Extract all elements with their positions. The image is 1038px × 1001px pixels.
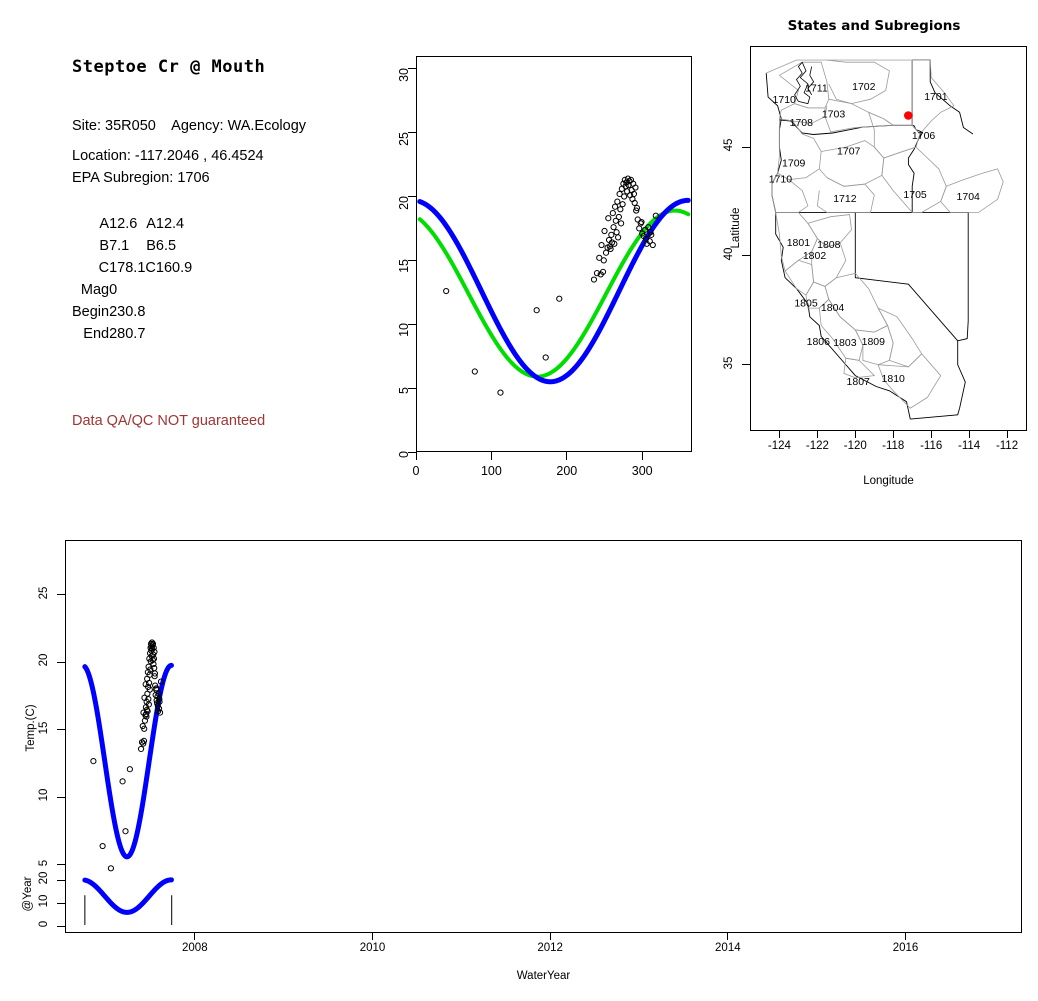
data-point bbox=[616, 235, 621, 240]
map-ytick-mark bbox=[742, 255, 750, 256]
ts-xtick-mark bbox=[727, 932, 728, 940]
parameter-cell-left: 280.7 bbox=[109, 325, 145, 347]
parameter-row: A12.6A12.4 bbox=[72, 215, 192, 237]
qaqc-warning: Data QA/QC NOT guaranteed bbox=[72, 413, 265, 429]
map-subregion-label: 1710 bbox=[769, 174, 793, 186]
data-point bbox=[543, 355, 548, 360]
data-point bbox=[127, 767, 132, 772]
ts-inset-ytick-label: 20 bbox=[38, 866, 50, 890]
map-yaxis-label: Latitude bbox=[730, 188, 742, 268]
map-ytick-label: 45 bbox=[723, 133, 735, 157]
map-xtick-mark bbox=[779, 430, 780, 438]
xtick-mark bbox=[416, 452, 417, 460]
parameters-table: A12.6A12.4B7.1B6.5C178.1C160.9Mag0Begin2… bbox=[72, 215, 192, 347]
ts-ytick-label: 20 bbox=[38, 648, 50, 672]
data-point bbox=[599, 242, 604, 247]
xtick-label: 0 bbox=[396, 464, 436, 478]
data-point bbox=[606, 216, 611, 221]
xtick-label: 300 bbox=[622, 464, 662, 478]
parameter-cell-left: End bbox=[72, 325, 109, 347]
ca-nv-az-border bbox=[910, 212, 968, 419]
map-subregion-label: 1704 bbox=[957, 191, 981, 203]
ts-ytick-mark bbox=[57, 594, 65, 595]
map-ytick-mark bbox=[742, 147, 750, 148]
map-subregion-label: 1803 bbox=[833, 337, 857, 349]
parameter-cell-right: 160.9 bbox=[156, 259, 192, 281]
parameter-row: C178.1C160.9 bbox=[72, 259, 192, 281]
parameter-cell-left: Begin bbox=[72, 303, 109, 325]
data-point bbox=[619, 186, 624, 191]
epa-subregion-line: EPA Subregion: 1706 bbox=[72, 170, 210, 186]
ts-xtick-mark bbox=[905, 932, 906, 940]
data-point bbox=[611, 225, 616, 230]
map-subregion-label: 1705 bbox=[903, 189, 927, 201]
ts-inset-ytick-label: 0 bbox=[38, 912, 50, 936]
data-point bbox=[637, 226, 642, 231]
map-xtick-mark bbox=[1007, 430, 1008, 438]
site-info-panel: Steptoe Cr @ Mouth Site: 35R050 Agency: … bbox=[0, 0, 380, 500]
map-subregion-label: 1708 bbox=[790, 117, 814, 129]
parameter-cell-left: A bbox=[72, 215, 109, 237]
map-xtick-mark bbox=[893, 430, 894, 438]
ytick-label: 20 bbox=[397, 196, 411, 222]
map-ytick-mark bbox=[742, 364, 750, 365]
seasonal-plot-panel: 0510152025300100200300 bbox=[380, 40, 710, 480]
data-point bbox=[650, 242, 655, 247]
xtick-label: 100 bbox=[471, 464, 511, 478]
data-point bbox=[91, 759, 96, 764]
parameter-row: B7.1B6.5 bbox=[72, 237, 192, 259]
parameter-cell-right: B bbox=[145, 237, 155, 259]
parameter-cell-left: 178.1 bbox=[109, 259, 145, 281]
data-point bbox=[534, 308, 539, 313]
ts-xtick-label: 2010 bbox=[344, 942, 400, 954]
ts-xtick-mark bbox=[372, 932, 373, 940]
data-point bbox=[108, 866, 113, 871]
fit-parameters-table: A12.6A12.4B7.1B6.5C178.1C160.9Mag0Begin2… bbox=[72, 215, 192, 347]
parameter-cell-right bbox=[145, 303, 155, 325]
parameter-cell-right bbox=[145, 325, 155, 347]
ca-nv-border bbox=[855, 213, 957, 341]
data-point bbox=[616, 214, 621, 219]
ts-xtick-label: 2016 bbox=[878, 942, 934, 954]
site-marker bbox=[904, 111, 913, 120]
data-point bbox=[120, 779, 125, 784]
ytick-label: 30 bbox=[397, 68, 411, 94]
map-subregion-label: 1807 bbox=[847, 376, 871, 388]
data-point bbox=[123, 829, 128, 834]
parameter-row: End280.7 bbox=[72, 325, 192, 347]
map-subregion-label: 1809 bbox=[862, 336, 886, 348]
data-point bbox=[610, 211, 615, 216]
ts-ytick-mark bbox=[57, 662, 65, 663]
map-subregion-label: 1711 bbox=[805, 82, 828, 94]
data-point bbox=[444, 288, 449, 293]
ts-inset-ytick-mark bbox=[57, 926, 65, 927]
map-subregion-label: 1806 bbox=[807, 336, 831, 348]
data-point bbox=[498, 390, 503, 395]
map-frame: 1711171017081703170217011706170717091710… bbox=[750, 46, 1027, 431]
parameter-cell-right bbox=[156, 281, 192, 303]
ts-ytick-mark bbox=[57, 864, 65, 865]
ts-xtick-mark bbox=[194, 932, 195, 940]
parameter-row: Mag0 bbox=[72, 281, 192, 303]
ts-ytick-mark bbox=[57, 729, 65, 730]
ts-ytick-mark bbox=[57, 797, 65, 798]
sub-1705 bbox=[882, 147, 946, 212]
ts-inset-ytick-mark bbox=[57, 903, 65, 904]
timeseries-inset-yaxis-label: @Year bbox=[22, 854, 34, 934]
parameter-cell-right bbox=[156, 303, 192, 325]
map-subregion-label: 1712 bbox=[833, 193, 857, 205]
parameter-cell-right: A bbox=[145, 215, 155, 237]
timeseries-xaxis-label: WaterYear bbox=[65, 970, 1022, 982]
ts-ytick-label: 10 bbox=[38, 783, 50, 807]
timeseries-panel: 5101520250102020082010201220142016 Temp.… bbox=[0, 500, 1038, 1001]
ts-inset-ytick-label: 10 bbox=[38, 889, 50, 913]
parameter-row: Begin230.8 bbox=[72, 303, 192, 325]
parameter-cell-right: 12.4 bbox=[156, 215, 192, 237]
map-canvas: 1711171017081703170217011706170717091710… bbox=[751, 47, 1026, 430]
data-point bbox=[601, 258, 606, 263]
parameter-cell-left: 12.6 bbox=[109, 215, 145, 237]
data-point bbox=[620, 202, 625, 207]
data-point bbox=[138, 746, 143, 751]
parameter-cell-left: C bbox=[72, 259, 109, 281]
map-xtick-mark bbox=[931, 430, 932, 438]
map-subregion-label: 1706 bbox=[912, 130, 936, 142]
data-point bbox=[603, 250, 608, 255]
parameter-cell-right bbox=[145, 281, 155, 303]
data-point bbox=[622, 194, 627, 199]
map-subregion-label: 1801 bbox=[787, 237, 811, 249]
seasonal-plot-canvas bbox=[416, 56, 692, 452]
timeseries-inset-fit bbox=[85, 880, 172, 913]
parameter-cell-left: 0 bbox=[109, 281, 145, 303]
map-subregion-label: 1702 bbox=[852, 81, 876, 93]
map-subregion-label: 1710 bbox=[773, 94, 797, 106]
map-subregion-label: 1701 bbox=[924, 91, 948, 103]
parameter-cell-right: 6.5 bbox=[156, 237, 192, 259]
location-line: Location: -117.2046 , 46.4524 bbox=[72, 148, 264, 164]
parameter-cell-left: 7.1 bbox=[109, 237, 145, 259]
ts-inset-ytick-mark bbox=[57, 880, 65, 881]
map-xtick-mark bbox=[969, 430, 970, 438]
map-subregion-label: 1709 bbox=[782, 157, 806, 169]
ts-ytick-label: 25 bbox=[38, 581, 50, 605]
data-point bbox=[609, 232, 614, 237]
xtick-label: 200 bbox=[547, 464, 587, 478]
data-point bbox=[619, 221, 624, 226]
ts-xtick-label: 2012 bbox=[522, 942, 578, 954]
map-xaxis-label: Longitude bbox=[750, 475, 1027, 487]
xtick-mark bbox=[491, 452, 492, 460]
parameter-cell-right: C bbox=[145, 259, 155, 281]
ts-xtick-mark bbox=[550, 932, 551, 940]
xtick-mark bbox=[566, 452, 567, 460]
data-point bbox=[557, 296, 562, 301]
map-xtick-label: -112 bbox=[985, 440, 1029, 452]
data-point bbox=[618, 207, 623, 212]
ts-xtick-label: 2014 bbox=[700, 942, 756, 954]
data-point bbox=[591, 277, 596, 282]
map-xtick-mark bbox=[855, 430, 856, 438]
parameter-cell-left: 230.8 bbox=[109, 303, 145, 325]
map-subregion-label: 1802 bbox=[803, 250, 827, 262]
data-point bbox=[472, 369, 477, 374]
data-point bbox=[615, 199, 620, 204]
ts-xtick-label: 2008 bbox=[167, 942, 223, 954]
xtick-mark bbox=[642, 452, 643, 460]
timeseries-yaxis-label: Temp.(C) bbox=[25, 683, 37, 773]
parameter-cell-left: B bbox=[72, 237, 109, 259]
site-agency-line: Site: 35R050 Agency: WA.Ecology bbox=[72, 118, 306, 134]
data-point bbox=[602, 228, 607, 233]
map-title: States and Subregions bbox=[710, 18, 1038, 34]
ytick-label: 5 bbox=[397, 387, 411, 413]
data-point bbox=[100, 843, 105, 848]
map-panel: States and Subregions 171117101708170317… bbox=[710, 0, 1038, 500]
ytick-label: 25 bbox=[397, 132, 411, 158]
parameter-cell-left: Mag bbox=[72, 281, 109, 303]
data-point bbox=[614, 230, 619, 235]
map-subregion-label: 1707 bbox=[837, 145, 861, 157]
page-title: Steptoe Cr @ Mouth bbox=[72, 57, 265, 77]
ytick-label: 15 bbox=[397, 259, 411, 285]
timeseries-canvas bbox=[65, 540, 1020, 931]
data-point bbox=[612, 204, 617, 209]
canada-border bbox=[766, 60, 912, 73]
map-xtick-mark bbox=[817, 430, 818, 438]
map-subregion-label: 1804 bbox=[821, 302, 845, 314]
map-ytick-label: 35 bbox=[723, 351, 735, 375]
map-subregion-label: 1703 bbox=[822, 108, 846, 120]
ts-ytick-label: 15 bbox=[38, 716, 50, 740]
parameter-cell-right bbox=[156, 325, 192, 347]
map-subregion-label: 1810 bbox=[882, 373, 906, 385]
map-subregion-label: 1805 bbox=[794, 298, 818, 310]
ytick-label: 10 bbox=[397, 323, 411, 349]
